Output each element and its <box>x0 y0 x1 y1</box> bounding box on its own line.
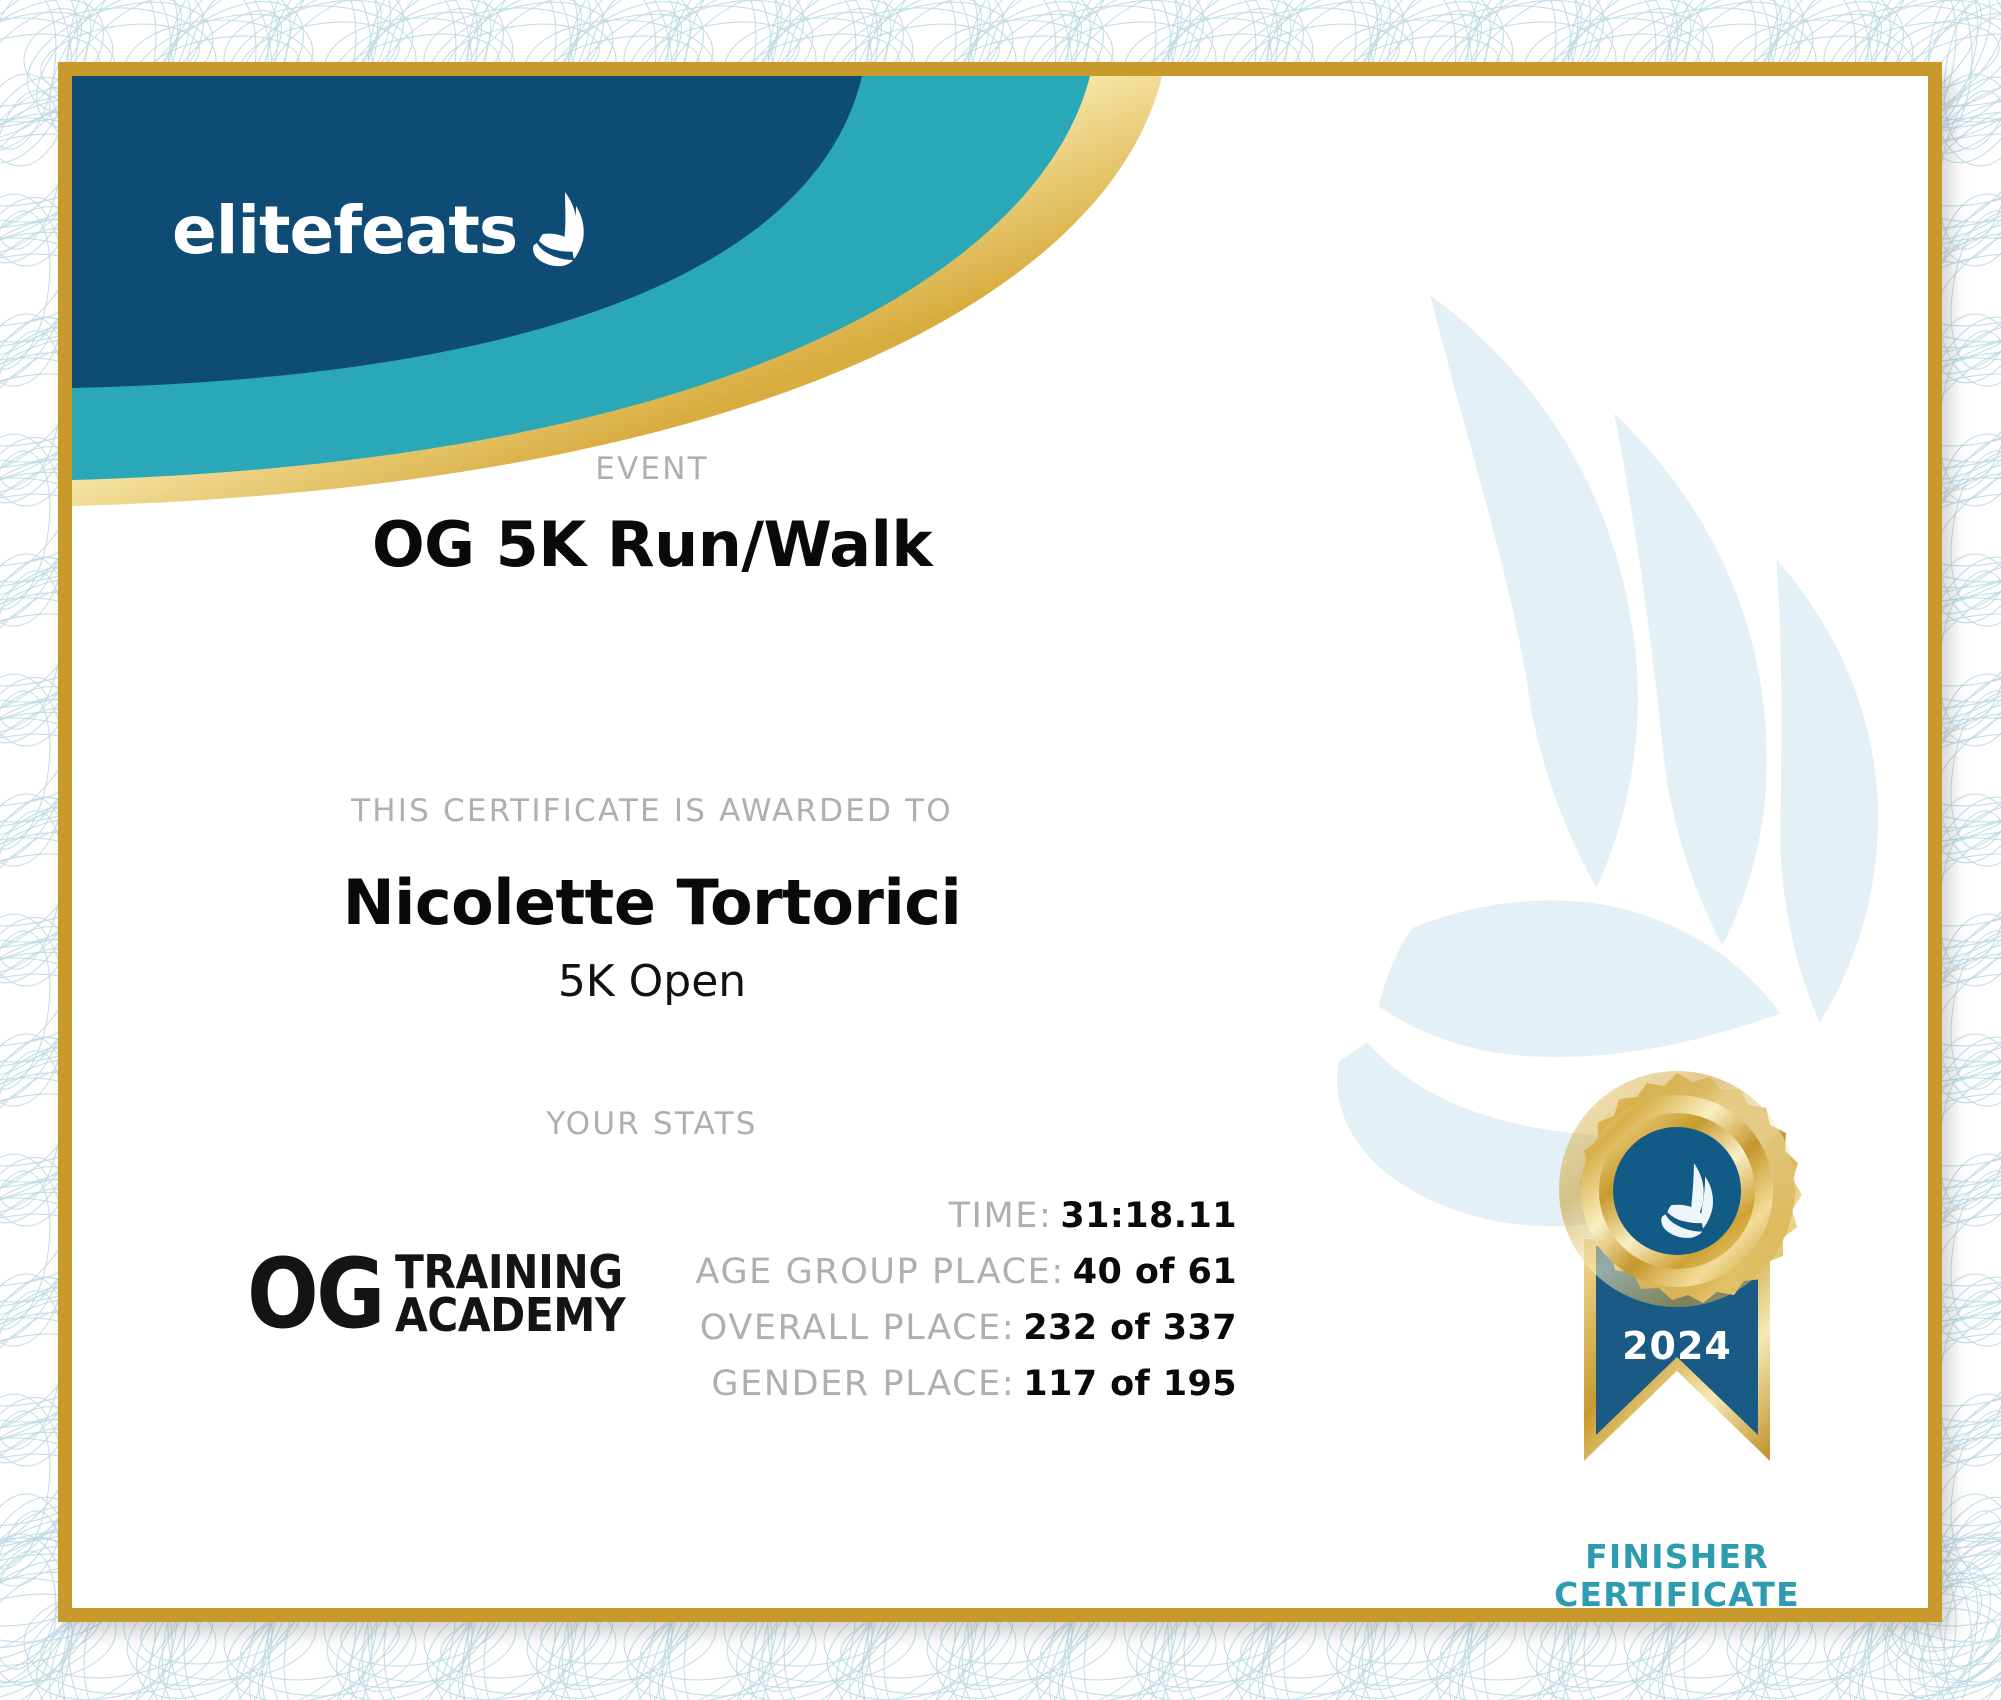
recipient-name: Nicolette Tortorici <box>72 866 1232 939</box>
certificate-card: elitefeats EVENT OG 5K Run/Walk THIS CER… <box>58 62 1942 1622</box>
event-label: EVENT <box>72 451 1232 487</box>
stat-value: 40 of 61 <box>1073 1252 1237 1292</box>
stat-label: OVERALL PLACE: <box>700 1308 1015 1348</box>
badge-caption: FINISHER CERTIFICATE <box>1512 1538 1842 1608</box>
og-monogram: OG <box>247 1253 383 1336</box>
stat-value: 232 of 337 <box>1023 1308 1237 1348</box>
stat-value: 117 of 195 <box>1023 1364 1237 1404</box>
stat-label: GENDER PLACE: <box>711 1364 1015 1404</box>
event-name: OG 5K Run/Walk <box>72 508 1232 581</box>
badge-caption-line1: FINISHER <box>1512 1538 1842 1576</box>
elitefeats-logo: elitefeats <box>172 188 591 264</box>
recipient-division: 5K Open <box>72 956 1232 1007</box>
stat-value: 31:18.11 <box>1060 1196 1237 1236</box>
badge-year: 2024 <box>1622 1324 1732 1368</box>
medal-ribbon-graphic: 2024 <box>1512 1071 1842 1536</box>
og-training-academy-logo: OG TRAINING ACADEMY <box>247 1251 646 1337</box>
stat-row-time: TIME:31:18.11 <box>72 1196 1237 1236</box>
og-academy-text: ACADEMY <box>395 1294 625 1337</box>
elitefeats-wordmark: elitefeats <box>172 198 517 264</box>
awarded-to-label: THIS CERTIFICATE IS AWARDED TO <box>72 793 1232 829</box>
finisher-badge: 2024 FINISHER CERTIFICATE <box>1512 1071 1842 1608</box>
winged-foot-icon <box>521 188 591 268</box>
your-stats-label: YOUR STATS <box>72 1106 1232 1142</box>
badge-caption-line2: CERTIFICATE <box>1512 1576 1842 1608</box>
stat-row-gender-place: GENDER PLACE:117 of 195 <box>72 1364 1237 1404</box>
stat-label: TIME: <box>949 1196 1053 1236</box>
stat-label: AGE GROUP PLACE: <box>696 1252 1065 1292</box>
